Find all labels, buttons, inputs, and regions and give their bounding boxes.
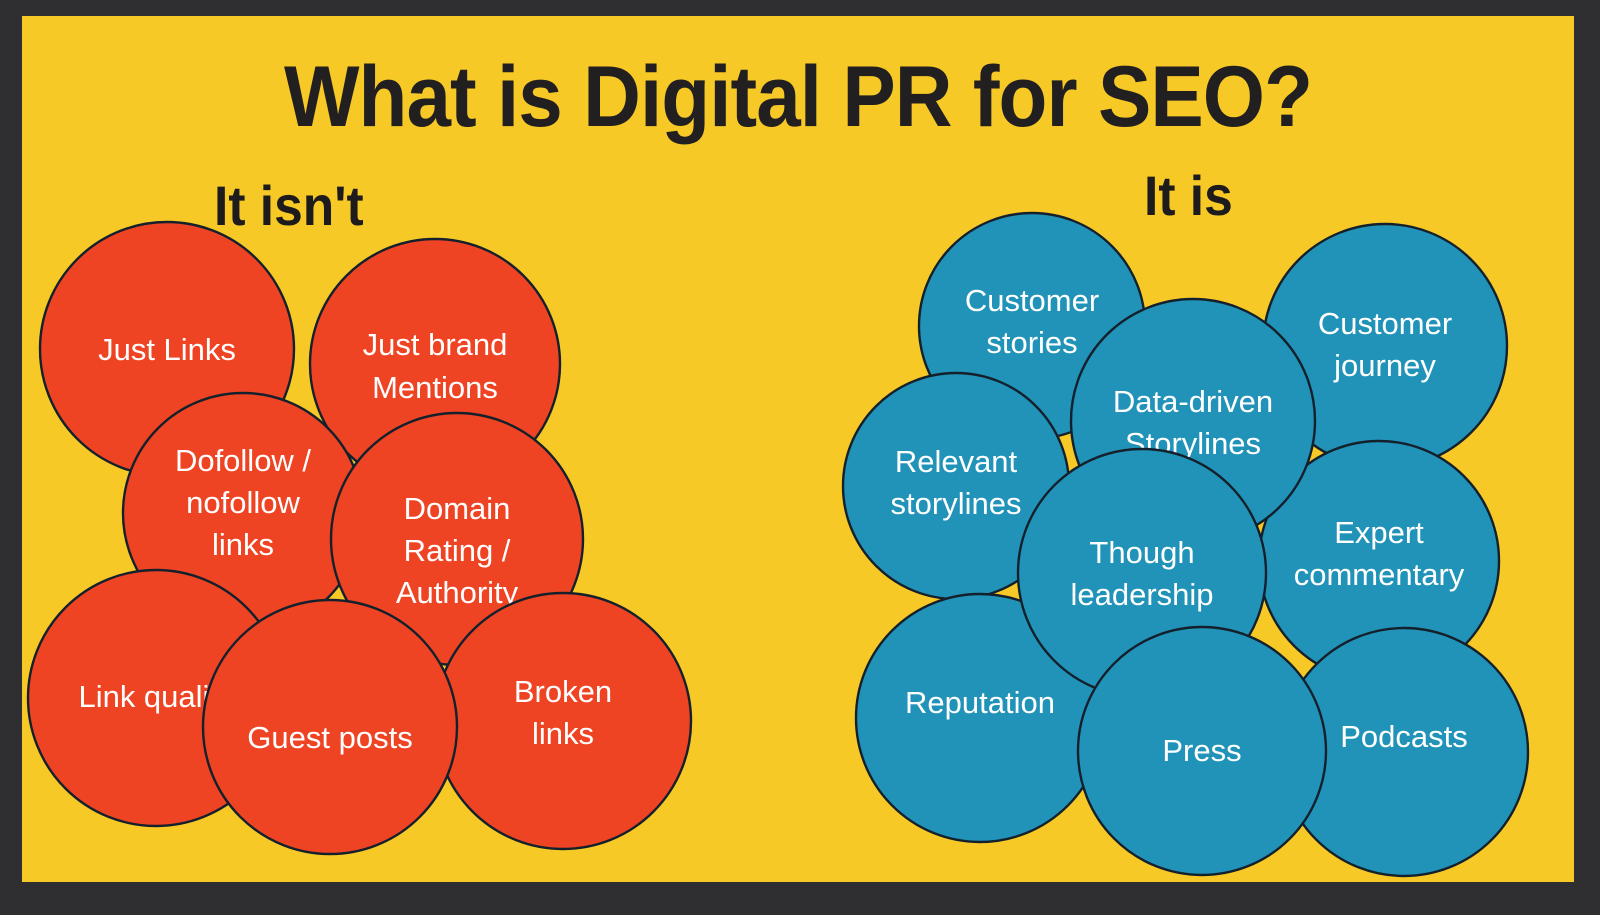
bubble-label: Dofollow / <box>175 443 311 478</box>
bubble-label: Just Links <box>98 332 236 367</box>
bubble-label: Mentions <box>372 370 498 405</box>
bubble-label: Customer <box>965 283 1099 318</box>
bubble-label: stories <box>986 325 1077 360</box>
bubble-label: journey <box>1333 348 1436 383</box>
bubble-label: Though <box>1089 535 1194 570</box>
bubble-press[interactable]: Press <box>1078 627 1326 875</box>
bubble-label: storylines <box>891 486 1022 521</box>
infographic-root: What is Digital PR for SEO? It isn't It … <box>0 0 1600 915</box>
bubble-label: nofollow <box>186 485 300 520</box>
bubble-label: Expert <box>1334 515 1424 550</box>
bubble-label: Just brand <box>363 327 508 362</box>
bubble-label: links <box>212 527 274 562</box>
bubble-broken-links[interactable]: Broken links <box>435 593 691 849</box>
bubble-label: Customer <box>1318 306 1452 341</box>
bubble-guest-posts[interactable]: Guest posts <box>203 600 457 854</box>
bubble-label: links <box>532 716 594 751</box>
bubble-label: leadership <box>1070 577 1213 612</box>
bubble-cluster-group: Just Links Just brand Mentions Dofollow … <box>22 16 1574 882</box>
bubble-label: Podcasts <box>1340 719 1468 754</box>
bubble-label: Relevant <box>895 444 1018 479</box>
yellow-panel: What is Digital PR for SEO? It isn't It … <box>22 16 1574 882</box>
bubble-label: Authority <box>396 575 519 610</box>
bubble-label: Data-driven <box>1113 384 1273 419</box>
bubble-label: Reputation <box>905 685 1055 720</box>
bubble-label: Domain <box>404 491 511 526</box>
bubble-label: Broken <box>514 674 612 709</box>
bubble-label: Rating / <box>404 533 511 568</box>
bubble-label: commentary <box>1294 557 1465 592</box>
bubble-label: Press <box>1162 733 1241 768</box>
bubble-label: Guest posts <box>247 720 412 755</box>
